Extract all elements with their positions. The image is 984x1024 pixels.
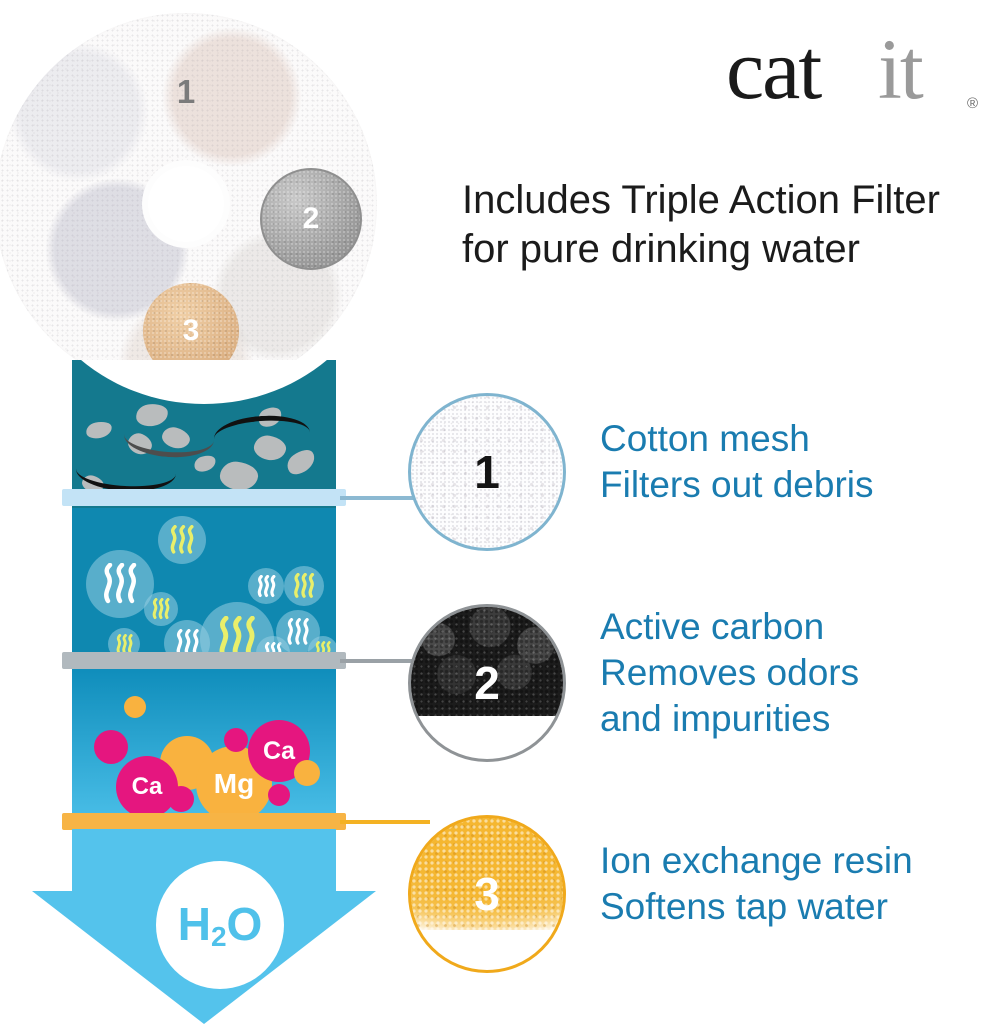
mineral-dot — [168, 786, 194, 812]
disc-pad-carbon: 2 — [260, 168, 362, 270]
callout-ion-exchange-resin[interactable]: 3 — [408, 815, 566, 973]
step-label-resin: Ion exchange resin Softens tap water — [600, 838, 980, 930]
debris-flake — [219, 460, 260, 492]
registered-trademark-icon: ® — [967, 95, 978, 112]
debris-flake — [85, 419, 114, 440]
column-top-curve-mask — [72, 360, 336, 410]
debris-flake — [192, 453, 218, 475]
ion-label: Ca — [132, 773, 163, 801]
odor-bubble — [158, 516, 206, 564]
logo-text-cat: cat — [726, 26, 820, 112]
column-band-debris — [72, 360, 336, 508]
callout-number-2: 2 — [474, 656, 500, 710]
odor-wave-icon — [285, 618, 311, 646]
odor-bubble — [144, 592, 178, 626]
odor-wave-icon — [256, 575, 277, 598]
debris-hair — [213, 413, 311, 459]
mineral-dot — [94, 730, 128, 764]
odor-wave-icon — [292, 573, 316, 599]
filter-center-hole — [148, 166, 224, 242]
disc-label-1: 1 — [177, 73, 195, 111]
curve-shape — [72, 360, 336, 404]
column-band-odors — [72, 508, 336, 668]
step-2-description-line2: and impurities — [600, 696, 960, 742]
mineral-dot — [224, 728, 248, 752]
column-band-minerals: Ca Mg Ca — [72, 668, 336, 830]
mineral-dot — [294, 760, 320, 786]
step-2-description-line1: Removes odors — [600, 650, 960, 696]
step-3-title: Ion exchange resin — [600, 838, 980, 884]
water-column: Ca Mg Ca — [72, 360, 336, 830]
catit-logo: cat it ® — [726, 26, 976, 118]
odor-bubble — [248, 568, 284, 604]
step-1-description: Filters out debris — [600, 462, 960, 508]
water-output-arrow: H2O — [32, 829, 376, 1024]
step-3-description: Softens tap water — [600, 884, 980, 930]
logo-text-it: it — [878, 26, 922, 112]
mineral-dot — [268, 784, 290, 806]
callout-number-3: 3 — [474, 867, 500, 921]
h2o-badge: H2O — [156, 861, 284, 989]
step-1-title: Cotton mesh — [600, 416, 960, 462]
infographic-canvas: cat it ® Includes Triple Action Filter f… — [0, 0, 984, 1024]
mineral-dot — [124, 696, 146, 718]
ion-label: Mg — [214, 768, 254, 800]
divider-cotton — [62, 489, 346, 506]
disc-label-2: 2 — [303, 202, 320, 236]
odor-wave-icon — [151, 598, 171, 620]
page-title: Includes Triple Action Filter for pure d… — [462, 176, 948, 274]
step-label-cotton: Cotton mesh Filters out debris — [600, 416, 960, 508]
filter-cartridge-photo: 1 2 3 — [0, 13, 377, 395]
mineral-ion-ca: Ca — [116, 756, 178, 818]
callout-active-carbon[interactable]: 2 — [408, 604, 566, 762]
step-2-title: Active carbon — [600, 604, 960, 650]
step-label-carbon: Active carbon Removes odors and impuriti… — [600, 604, 960, 742]
odor-bubble — [284, 566, 324, 606]
ion-label: Ca — [263, 737, 295, 766]
odor-wave-icon — [168, 525, 196, 555]
callout-number-1: 1 — [474, 445, 500, 499]
odor-wave-icon — [100, 563, 140, 605]
callout-cotton-mesh[interactable]: 1 — [408, 393, 566, 551]
divider-resin — [62, 813, 346, 830]
divider-carbon — [62, 652, 346, 669]
disc-label-3: 3 — [183, 314, 200, 348]
h2o-label: H2O — [178, 897, 263, 953]
